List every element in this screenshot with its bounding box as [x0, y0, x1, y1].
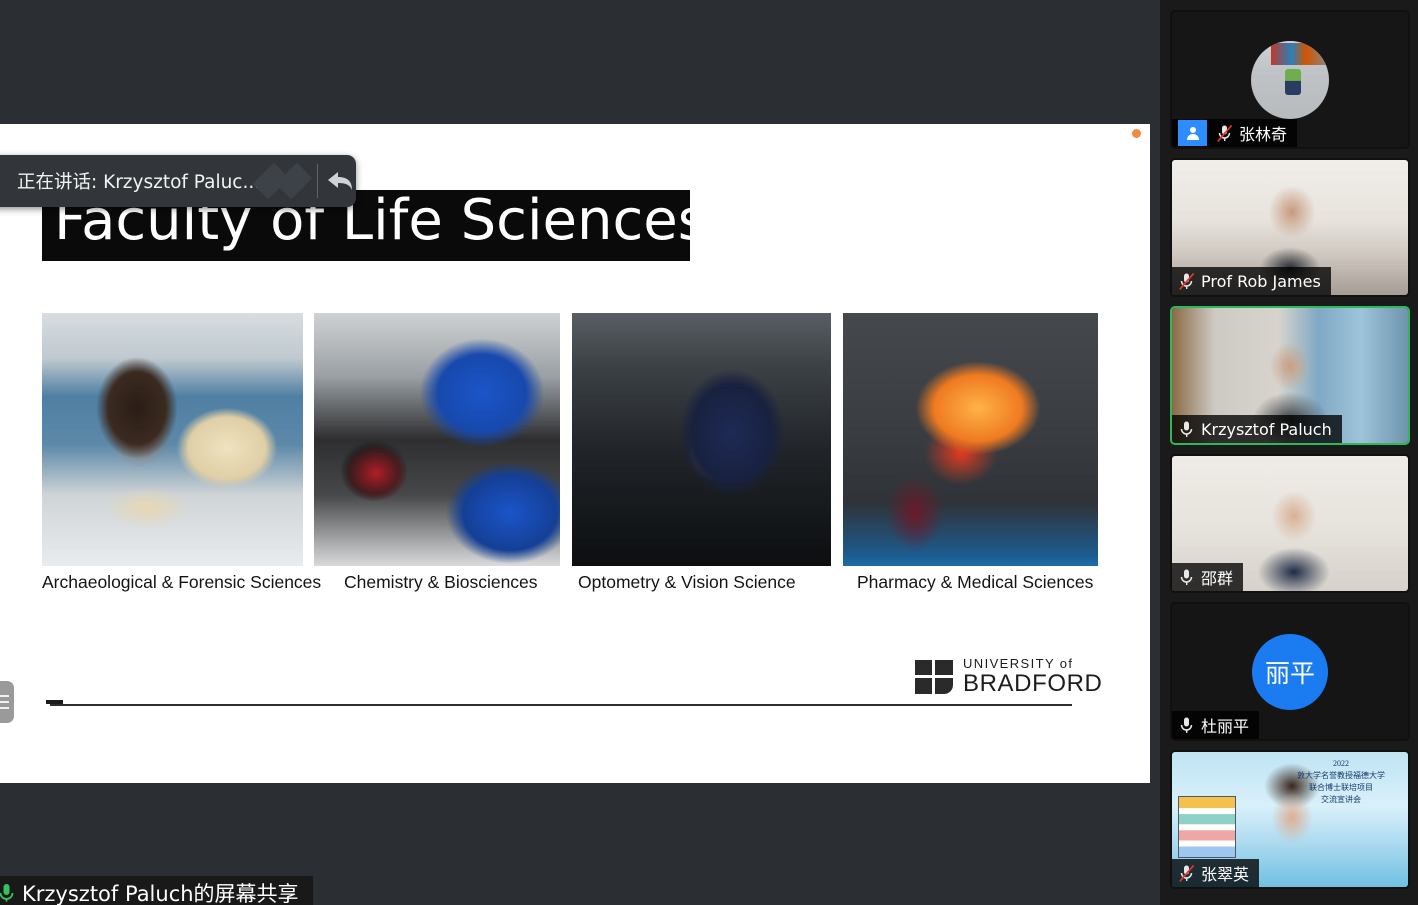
- caption-pharmacy-medical-sciences: Pharmacy & Medical Sciences: [857, 572, 1093, 593]
- avatar: [1251, 41, 1329, 119]
- participant-name: Krzysztof Paluch: [1201, 420, 1332, 439]
- participant-tile-zhanglinqi[interactable]: 张林奇: [1170, 10, 1410, 149]
- participant-nameplate: 杜丽平: [1172, 711, 1259, 739]
- participant-name: 张翠英: [1201, 861, 1249, 885]
- share-status-text: Krzysztof Paluch的屏幕共享: [22, 878, 299, 905]
- microphone-muted-icon: [1178, 864, 1196, 883]
- participant-tile-krzysztof-paluch[interactable]: Krzysztof Paluch: [1170, 306, 1410, 445]
- participant-nameplate: 邵群: [1172, 563, 1243, 591]
- poster-text: 2022 敦大学名誉教授福德大学 联合博士联培项目 交流宣讲会: [1282, 758, 1400, 806]
- participant-name: 邵群: [1201, 565, 1233, 589]
- slide-dash-mark: [46, 700, 63, 704]
- speaking-status-label: 正在讲话: Krzysztof Paluc...: [0, 168, 260, 194]
- participant-name: Prof Rob James: [1201, 272, 1321, 291]
- microphone-muted-icon: [1216, 124, 1234, 143]
- eye-examination-photo: [572, 313, 831, 566]
- department-image-row: [42, 313, 1098, 566]
- participant-rail[interactable]: 张林奇 Prof Rob James: [1160, 0, 1418, 905]
- logo-line-university: UNIVERSITY of: [963, 657, 1102, 670]
- resize-marker-dot[interactable]: [1132, 129, 1141, 138]
- participant-name: 杜丽平: [1201, 713, 1249, 737]
- avatar: 丽平: [1252, 634, 1328, 710]
- poster-books-graphic: [1178, 796, 1236, 858]
- microphone-icon: [1178, 420, 1196, 439]
- participant-nameplate: Prof Rob James: [1172, 267, 1331, 295]
- host-person-icon: [1178, 120, 1207, 146]
- caption-optometry-vision-science: Optometry & Vision Science: [578, 572, 796, 593]
- leave-fullscreen-back-icon[interactable]: [326, 168, 356, 194]
- status-badge: Krzysztof Paluch的屏幕共享: [0, 876, 313, 905]
- participant-tile-shaoqun[interactable]: 邵群: [1170, 454, 1410, 593]
- 3d-anatomy-table-photo: [843, 313, 1098, 566]
- chevron-icon[interactable]: [260, 166, 305, 196]
- caption-archaeological-forensic-sciences: Archaeological & Forensic Sciences: [42, 572, 321, 593]
- archaeology-lab-photo: [42, 313, 303, 566]
- zoom-meeting-window: Faculty of Life Sciences Archaeological …: [0, 0, 1418, 905]
- microphone-icon: [1178, 568, 1196, 587]
- slide-divider-rule: [50, 704, 1072, 706]
- participant-nameplate: Krzysztof Paluch: [1172, 415, 1342, 443]
- caption-chemistry-biosciences: Chemistry & Biosciences: [344, 572, 538, 593]
- participant-nameplate: 张林奇: [1172, 119, 1297, 147]
- participant-name: 张林奇: [1239, 121, 1287, 145]
- bradford-shield-icon: [915, 660, 953, 694]
- university-logo: UNIVERSITY of BRADFORD: [915, 657, 1102, 696]
- participant-tile-prof-rob-james[interactable]: Prof Rob James: [1170, 158, 1410, 297]
- participant-nameplate: 张翠英: [1172, 859, 1259, 887]
- drag-handle-icon[interactable]: [0, 681, 14, 723]
- microphone-muted-icon: [1178, 272, 1196, 291]
- logo-line-bradford: BRADFORD: [963, 672, 1102, 696]
- speaking-toolbar[interactable]: 正在讲话: Krzysztof Paluc...: [0, 155, 356, 207]
- toolbar-divider-2: [317, 164, 318, 198]
- participant-tile-duliping[interactable]: 丽平 杜丽平: [1170, 602, 1410, 741]
- microphone-icon: [1178, 716, 1196, 735]
- department-captions: Archaeological & Forensic Sciences Chemi…: [42, 572, 1102, 598]
- blue-gloves-lab-photo: [314, 313, 560, 566]
- participant-tile-zhangcuiying[interactable]: 2022 敦大学名誉教授福德大学 联合博士联培项目 交流宣讲会 张翠英: [1170, 750, 1410, 889]
- screen-share-region: Faculty of Life Sciences Archaeological …: [0, 0, 1160, 905]
- microphone-icon: [0, 883, 15, 903]
